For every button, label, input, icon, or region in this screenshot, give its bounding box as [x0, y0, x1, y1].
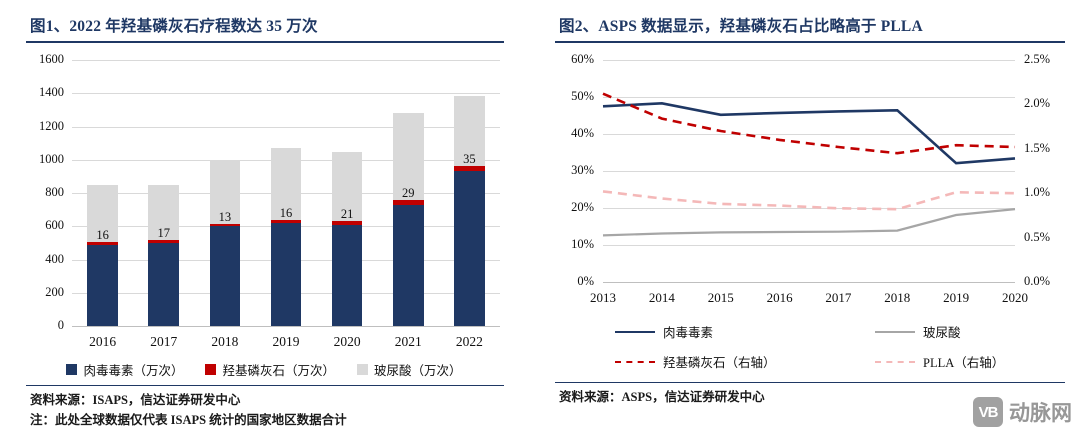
bar-value-label: 29 [402, 186, 415, 201]
line-series-canvas [555, 52, 1067, 312]
right-panel: 图2、ASPS 数据显示，羟基磷灰石占比略高于 PLLA 0%10%20%30%… [545, 0, 1080, 435]
bar-segment-botox [148, 243, 179, 326]
bar-y-tick-label: 1200 [26, 119, 64, 134]
legend-swatch-icon [357, 364, 368, 375]
line-x-tick-label: 2017 [825, 290, 851, 306]
bar-group: 16 [271, 60, 302, 326]
bar-y-tick-label: 0 [26, 318, 64, 333]
bar-value-label: 21 [341, 207, 354, 222]
bar-x-tick-label: 2016 [89, 334, 116, 350]
bar-value-label: 13 [219, 210, 232, 225]
line-x-tick-label: 2013 [590, 290, 616, 306]
legend-swatch-icon [66, 364, 77, 375]
bar-x-tick-label: 2022 [456, 334, 483, 350]
legend-line-icon [615, 331, 655, 333]
bar-segment-botox [454, 171, 485, 326]
left-source-line-1: 资料来源：ISAPS，信达证券研发中心 [26, 386, 504, 409]
bar-segment-botox [271, 223, 302, 326]
bar-y-tick-label: 1600 [26, 52, 64, 67]
right-title-rule [555, 41, 1065, 43]
legend-swatch-icon [205, 364, 216, 375]
line-legend-label: 羟基磷灰石（右轴） [663, 352, 776, 371]
left-title-rule [26, 41, 504, 43]
bar-group: 17 [148, 60, 179, 326]
line-x-tick-label: 2015 [708, 290, 734, 306]
bar-legend-item-1: 羟基磷灰石（万次） [205, 360, 335, 379]
bar-x-axis [72, 326, 500, 327]
legend-line-icon [615, 361, 655, 363]
line-legend-label: PLLA（右轴） [923, 352, 1004, 371]
line-x-axis [603, 282, 1015, 283]
bar-group: 29 [393, 60, 424, 326]
bar-group: 35 [454, 60, 485, 326]
bar-segment-botox [210, 226, 241, 326]
watermark-text: 动脉网 [1009, 397, 1072, 427]
left-panel-title: 图1、2022 年羟基磷灰石疗程数达 35 万次 [26, 14, 504, 36]
left-source-line-2: 注：此处全球数据仅代表 ISAPS 统计的国家地区数据合计 [26, 409, 504, 429]
left-panel: 图1、2022 年羟基磷灰石疗程数达 35 万次 020040060080010… [0, 0, 528, 435]
line-legend-item-3: PLLA（右轴） [875, 352, 1004, 371]
line-series-玻尿酸 [603, 209, 1015, 235]
bar-legend-label: 肉毒毒素（万次） [83, 360, 183, 379]
line-x-tick-label: 2014 [649, 290, 675, 306]
bar-segment-botox [332, 225, 363, 326]
bar-legend-item-0: 肉毒毒素（万次） [66, 360, 183, 379]
line-legend-item-2: 羟基磷灰石（右轴） [615, 352, 776, 371]
left-footer: 资料来源：ISAPS，信达证券研发中心 注：此处全球数据仅代表 ISAPS 统计… [26, 385, 504, 429]
bar-x-tick-label: 2019 [273, 334, 300, 350]
bar-legend-label: 玻尿酸（万次） [374, 360, 462, 379]
bar-y-tick-label: 200 [26, 285, 64, 300]
line-chart-legend: 肉毒毒素玻尿酸羟基磷灰石（右轴）PLLA（右轴） [555, 320, 1067, 380]
bar-value-label: 17 [157, 226, 170, 241]
line-x-tick-label: 2019 [943, 290, 969, 306]
line-x-tick-label: 2020 [1002, 290, 1028, 306]
right-panel-title: 图2、ASPS 数据显示，羟基磷灰石占比略高于 PLLA [555, 14, 1065, 36]
watermark: VB 动脉网 [973, 397, 1072, 427]
bar-y-tick-label: 800 [26, 185, 64, 200]
bar-y-tick-label: 400 [26, 252, 64, 267]
bar-value-label: 35 [463, 152, 476, 167]
line-x-tick-label: 2016 [767, 290, 793, 306]
legend-line-icon [875, 331, 915, 333]
line-legend-label: 玻尿酸 [923, 322, 961, 341]
line-series-肉毒毒素 [603, 103, 1015, 163]
bar-value-label: 16 [96, 228, 109, 243]
line-x-tick-label: 2018 [884, 290, 910, 306]
bar-x-tick-label: 2020 [334, 334, 361, 350]
bar-chart-legend: 肉毒毒素（万次）羟基磷灰石（万次）玻尿酸（万次） [0, 360, 528, 379]
bar-value-label: 16 [280, 206, 293, 221]
bar-x-tick-label: 2018 [211, 334, 238, 350]
bar-x-tick-label: 2017 [150, 334, 177, 350]
bar-y-tick-label: 1400 [26, 85, 64, 100]
bar-x-tick-label: 2021 [395, 334, 422, 350]
line-chart: 0%10%20%30%40%50%60%0.0%0.5%1.0%1.5%2.0%… [555, 52, 1067, 312]
bar-legend-label: 羟基磷灰石（万次） [222, 360, 335, 379]
bar-segment-botox [393, 205, 424, 326]
bar-y-tick-label: 1000 [26, 152, 64, 167]
line-legend-label: 肉毒毒素 [663, 322, 713, 341]
line-legend-item-1: 玻尿酸 [875, 322, 961, 341]
report-page: 图1、2022 年羟基磷灰石疗程数达 35 万次 020040060080010… [0, 0, 1080, 435]
bar-segment-botox [87, 245, 118, 326]
bar-y-tick-label: 600 [26, 218, 64, 233]
bar-legend-item-2: 玻尿酸（万次） [357, 360, 462, 379]
bar-chart: 0200400600800100012001400160016201617201… [26, 50, 506, 360]
watermark-badge: VB [973, 397, 1003, 427]
left-title-block: 图1、2022 年羟基磷灰石疗程数达 35 万次 [26, 14, 504, 43]
bar-group: 16 [87, 60, 118, 326]
line-legend-item-0: 肉毒毒素 [615, 322, 713, 341]
bar-group: 21 [332, 60, 363, 326]
line-series-PLLA（右轴） [603, 191, 1015, 209]
right-title-block: 图2、ASPS 数据显示，羟基磷灰石占比略高于 PLLA [555, 14, 1065, 43]
legend-line-icon [875, 361, 915, 363]
bar-group: 13 [210, 60, 241, 326]
